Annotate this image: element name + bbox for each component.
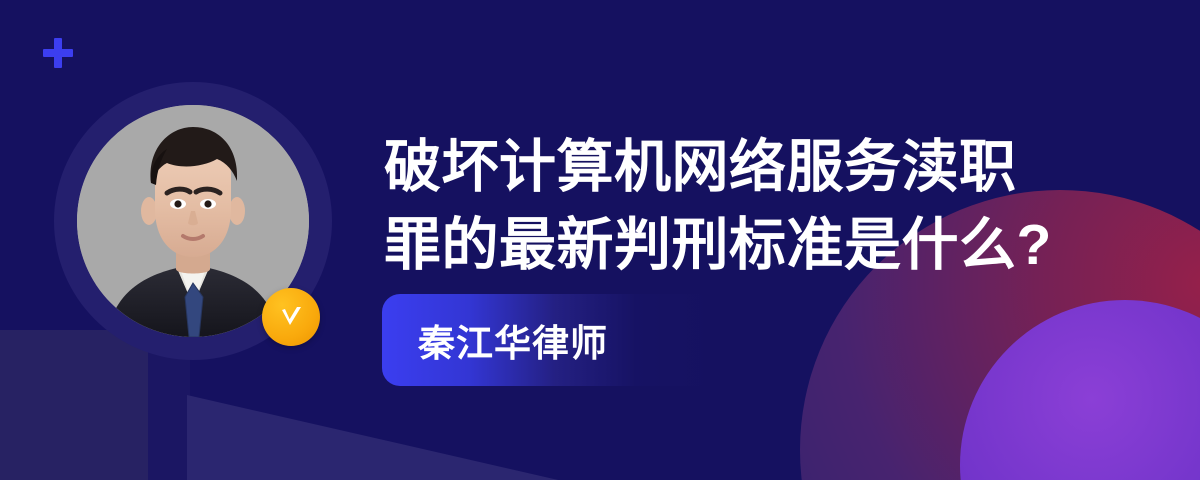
plus-icon (43, 38, 73, 68)
page-title-line-2: 罪的最新判刑标准是什么? (384, 206, 1144, 284)
page-title: 破坏计算机网络服务渎职 罪的最新判刑标准是什么? (384, 128, 1144, 284)
author-badge[interactable]: 秦江华律师 (382, 294, 716, 386)
author-name: 秦江华律师 (382, 313, 608, 367)
page-title-line-1: 破坏计算机网络服务渎职 (384, 128, 1144, 206)
avatar (54, 82, 332, 360)
qa-banner: 破坏计算机网络服务渎职 罪的最新判刑标准是什么? 秦江华律师 (0, 0, 1200, 480)
decorative-wedge (160, 395, 580, 480)
verified-check-icon (262, 288, 320, 346)
